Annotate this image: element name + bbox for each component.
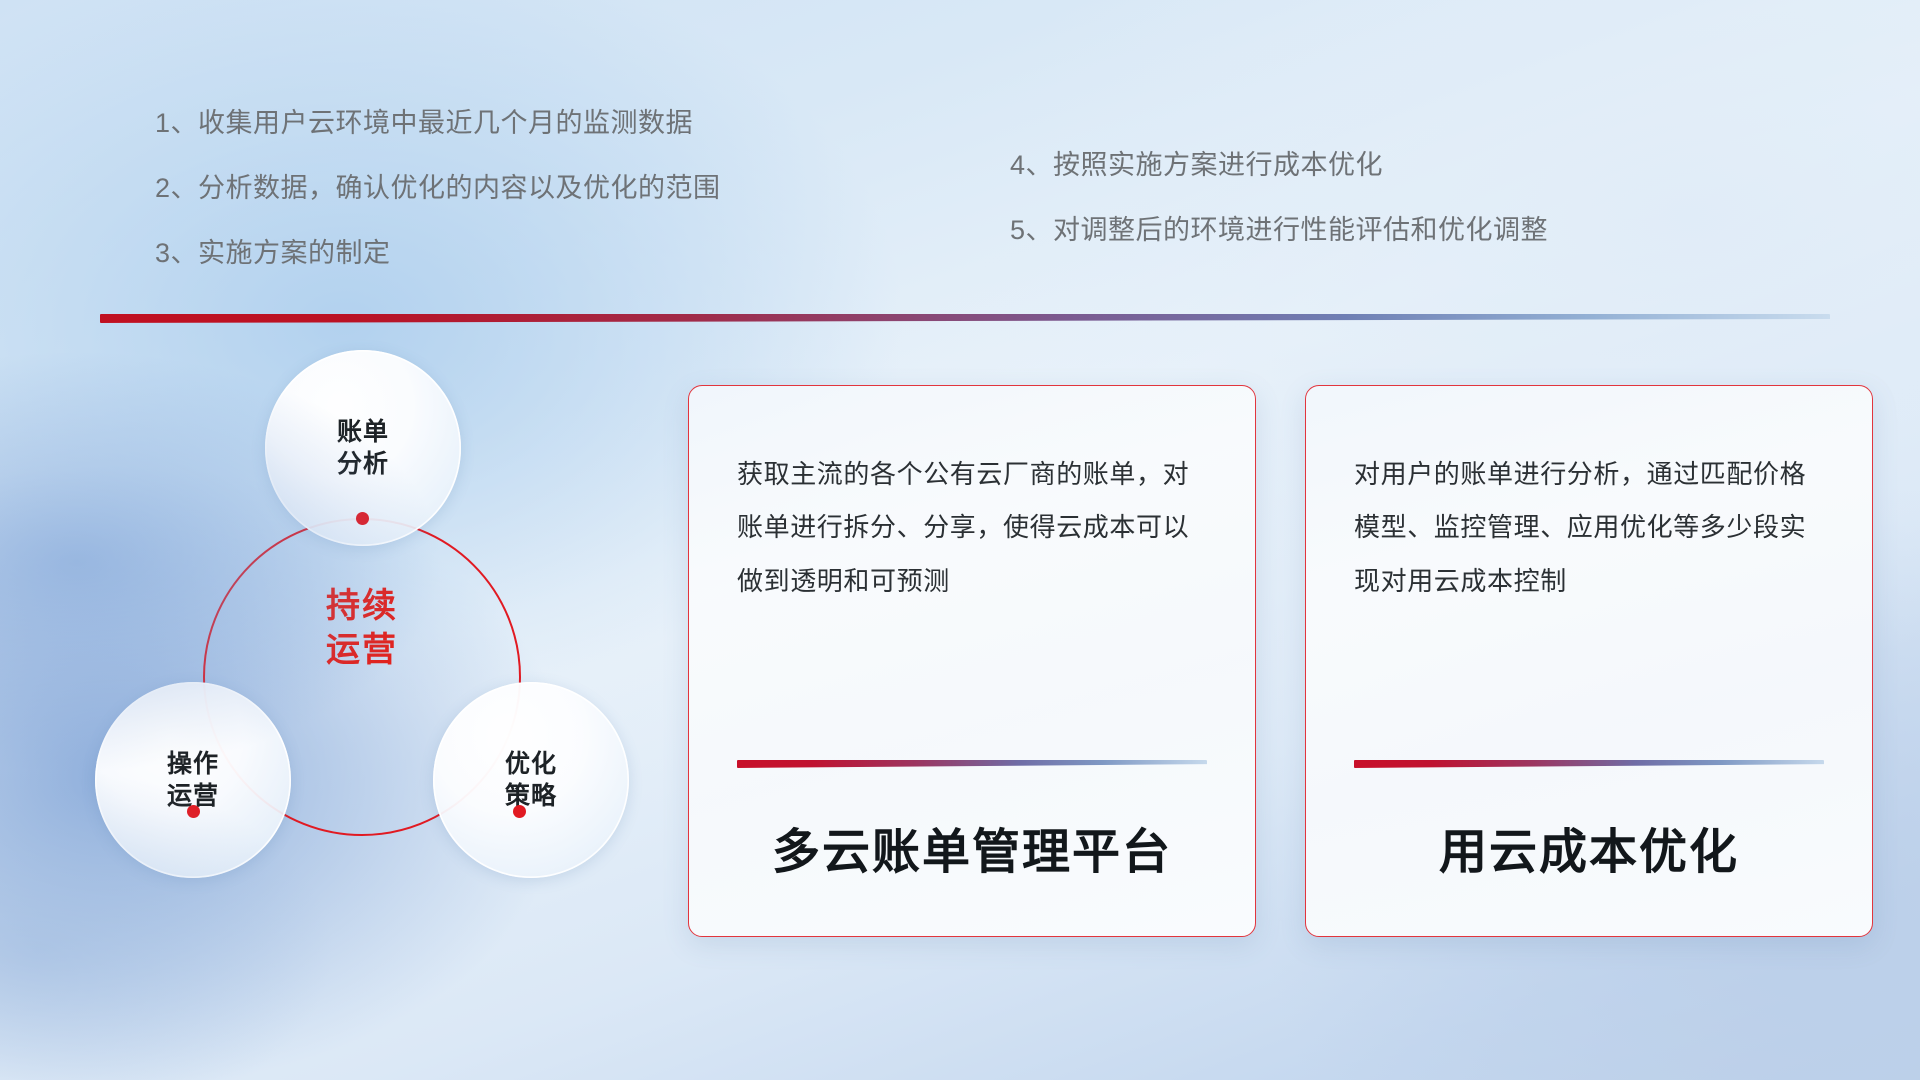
diagram-node-dot-bottom-left — [187, 805, 200, 818]
bubble-label-line2: 分析 — [337, 448, 389, 480]
step-item: 2、分析数据，确认优化的内容以及优化的范围 — [155, 175, 721, 202]
step-item: 3、实施方案的制定 — [155, 240, 721, 267]
card-divider-rule — [1354, 760, 1824, 768]
diagram-bubble-operations[interactable]: 操作 运营 — [95, 682, 291, 878]
feature-card-cost-optimization[interactable]: 对用户的账单进行分析，通过匹配价格模型、监控管理、应用优化等多少段实现对用云成本… — [1305, 385, 1873, 937]
center-label-line1: 持续 — [203, 584, 521, 628]
steps-column-right: 4、按照实施方案进行成本优化 5、对调整后的环境进行性能评估和优化调整 — [1010, 152, 1548, 282]
cycle-diagram: 账单 分析 操作 运营 优化 策略 持续 运营 — [95, 350, 655, 950]
bubble-label-line2: 策略 — [505, 780, 557, 812]
slide-canvas: 1、收集用户云环境中最近几个月的监测数据 2、分析数据，确认优化的内容以及优化的… — [0, 0, 1920, 1080]
diagram-bubble-optimization-strategy[interactable]: 优化 策略 — [433, 682, 629, 878]
bubble-label-line1: 优化 — [505, 748, 557, 780]
diagram-node-dot-bottom-right — [513, 805, 526, 818]
card-divider-rule — [737, 760, 1207, 768]
section-divider-rule — [100, 314, 1830, 323]
step-item: 5、对调整后的环境进行性能评估和优化调整 — [1010, 217, 1548, 244]
card-title: 用云成本优化 — [1354, 768, 1824, 936]
center-label-line2: 运营 — [203, 628, 521, 672]
steps-column-left: 1、收集用户云环境中最近几个月的监测数据 2、分析数据，确认优化的内容以及优化的… — [155, 110, 721, 305]
bubble-label-line1: 操作 — [167, 748, 219, 780]
card-body-text: 获取主流的各个公有云厂商的账单，对账单进行拆分、分享，使得云成本可以做到透明和可… — [737, 448, 1207, 608]
diagram-node-dot-top — [356, 512, 369, 525]
step-item: 4、按照实施方案进行成本优化 — [1010, 152, 1548, 179]
card-body-text: 对用户的账单进行分析，通过匹配价格模型、监控管理、应用优化等多少段实现对用云成本… — [1354, 448, 1824, 608]
diagram-center-label: 持续 运营 — [203, 584, 521, 672]
card-title: 多云账单管理平台 — [737, 768, 1207, 936]
step-item: 1、收集用户云环境中最近几个月的监测数据 — [155, 110, 721, 137]
bubble-label-line1: 账单 — [337, 416, 389, 448]
feature-card-multicloud-billing[interactable]: 获取主流的各个公有云厂商的账单，对账单进行拆分、分享，使得云成本可以做到透明和可… — [688, 385, 1256, 937]
